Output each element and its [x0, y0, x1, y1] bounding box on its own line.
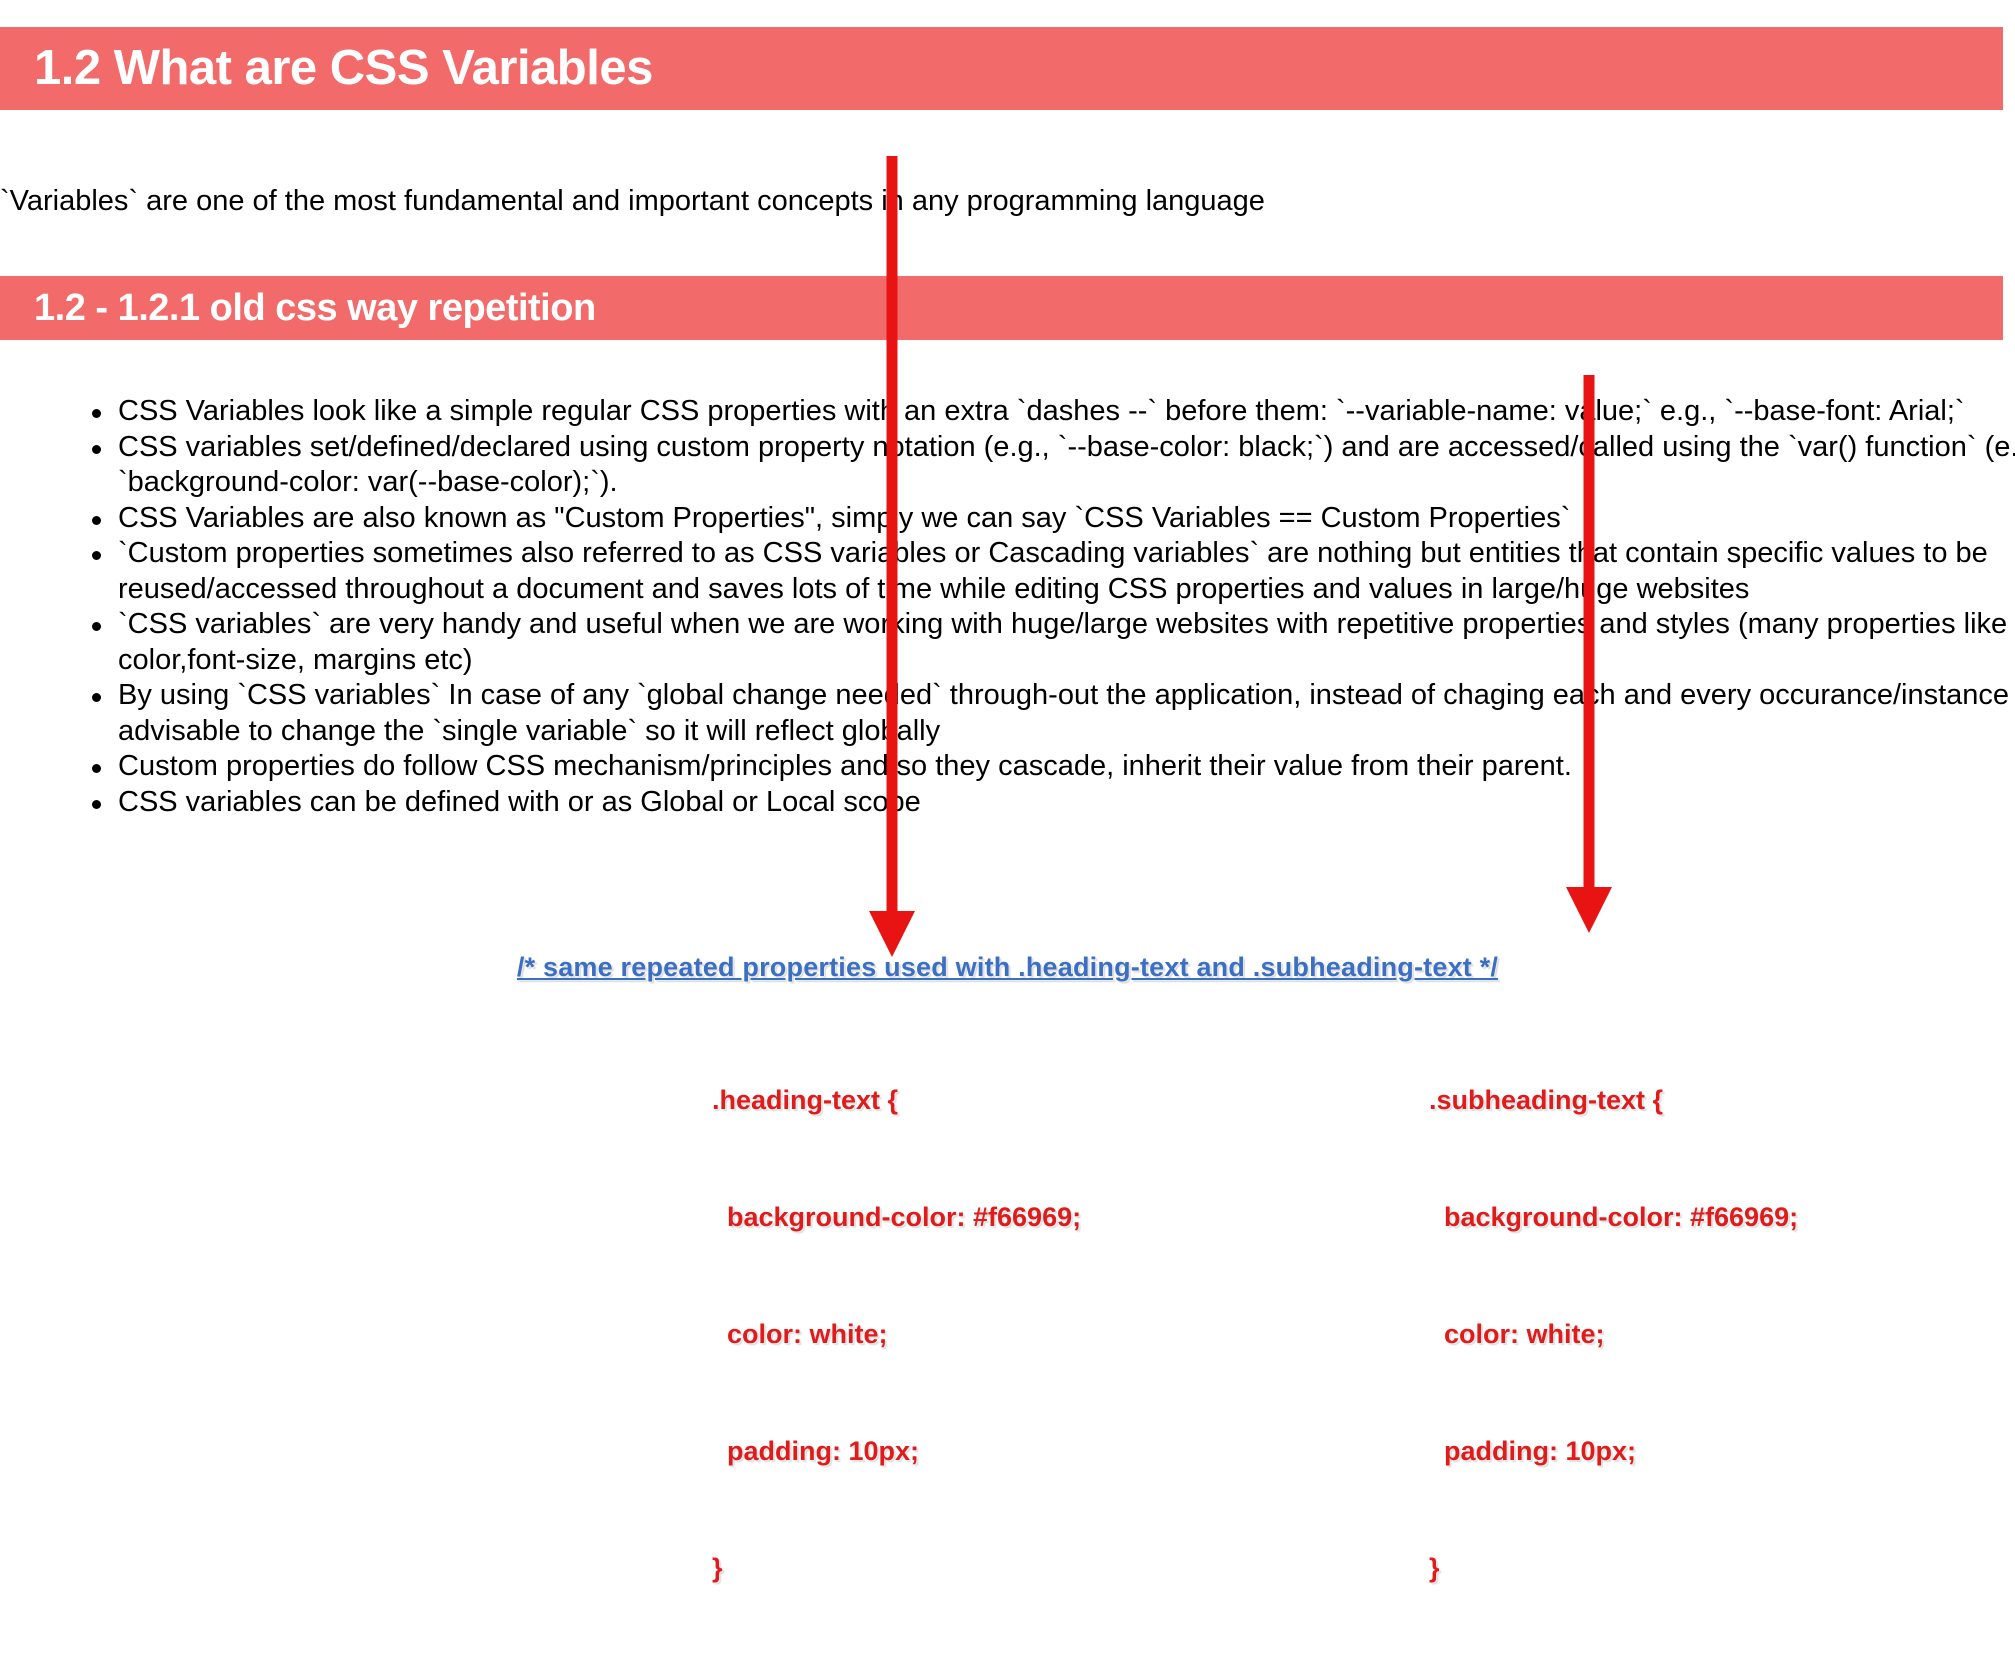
list-item: By using `CSS variables` In case of any …	[92, 678, 2015, 749]
code-line: background-color: #f66969;	[712, 1198, 1081, 1237]
code-line: .heading-text {	[712, 1081, 1081, 1120]
list-item: `Custom properties sometimes also referr…	[92, 536, 2015, 607]
list-item: CSS Variables are also known as "Custom …	[92, 501, 2015, 537]
list-item: CSS Variables look like a simple regular…	[92, 394, 2015, 430]
bullet-list: CSS Variables look like a simple regular…	[0, 394, 2015, 820]
code-line: .subheading-text {	[1429, 1081, 1798, 1120]
list-item: Custom properties do follow CSS mechanis…	[92, 749, 2015, 785]
code-line: color: white;	[712, 1315, 1081, 1354]
code-line: padding: 10px;	[712, 1432, 1081, 1471]
section-header-bar-secondary: 1.2 - 1.2.1 old css way repetition	[0, 276, 2003, 340]
subsection-title: 1.2 - 1.2.1 old css way repetition	[34, 289, 596, 327]
list-item: `CSS variables` are very handy and usefu…	[92, 607, 2015, 678]
list-item: CSS variables can be defined with or as …	[92, 785, 2015, 821]
code-line: padding: 10px;	[1429, 1432, 1798, 1471]
intro-paragraph: `Variables` are one of the most fundamen…	[0, 183, 1980, 219]
page-title: 1.2 What are CSS Variables	[34, 44, 653, 93]
slide-page: 1.2 What are CSS Variables `Variables` a…	[0, 0, 2015, 1210]
code-line: color: white;	[1429, 1315, 1798, 1354]
code-line: background-color: #f66969;	[1429, 1198, 1798, 1237]
code-block-heading-text: .heading-text { background-color: #f6696…	[712, 1003, 1081, 1666]
list-item: CSS variables set/defined/declared using…	[92, 430, 2015, 501]
code-comment-annotation: /* same repeated properties used with .h…	[0, 952, 2015, 983]
section-header-bar-primary: 1.2 What are CSS Variables	[0, 27, 2003, 110]
code-line: }	[712, 1549, 1081, 1588]
code-line: }	[1429, 1549, 1798, 1588]
code-block-subheading-text: .subheading-text { background-color: #f6…	[1429, 1003, 1798, 1666]
